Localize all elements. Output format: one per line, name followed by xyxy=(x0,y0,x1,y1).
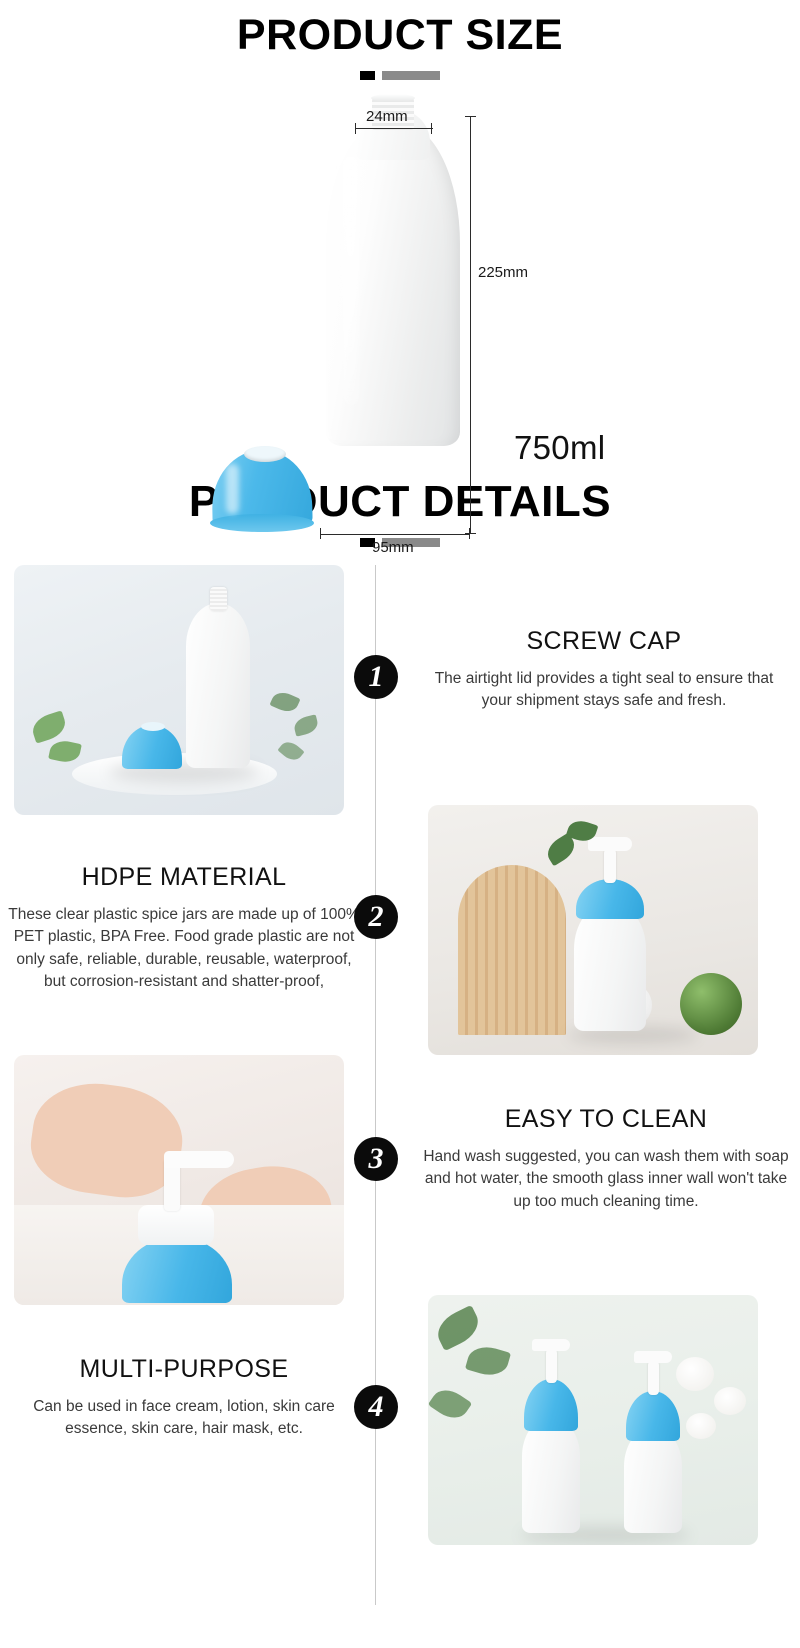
feature-title-1: SCREW CAP xyxy=(420,627,788,656)
accent-bars-top xyxy=(0,71,800,80)
bottle-highlight xyxy=(342,156,359,406)
feature-number-badge-2: 2 xyxy=(354,895,398,939)
width-dim-tick-right xyxy=(469,528,470,539)
feature-title-4: MULTI-PURPOSE xyxy=(8,1355,360,1384)
feature-block-3: EASY TO CLEAN Hand wash suggested, you c… xyxy=(420,1105,792,1213)
feature-number-badge-1: 1 xyxy=(354,655,398,699)
blue-cap-highlight xyxy=(226,464,239,514)
neck-diameter-label: 24mm xyxy=(366,108,408,125)
feature-block-2: HDPE MATERIAL These clear plastic spice … xyxy=(8,863,360,994)
feature-number-badge-4: 4 xyxy=(354,1385,398,1429)
accent-bar-square xyxy=(360,71,375,80)
feature-number-badge-3: 3 xyxy=(354,1137,398,1181)
feature-title-3: EASY TO CLEAN xyxy=(420,1105,792,1134)
bottle-neck-opening-illustration xyxy=(371,94,415,102)
volume-label: 750ml xyxy=(514,429,605,467)
feature-photo-4 xyxy=(428,1295,758,1545)
width-dimension-line xyxy=(320,534,470,535)
feature-description-1: The airtight lid provides a tight seal t… xyxy=(420,668,788,713)
feature-description-4: Can be used in face cream, lotion, skin … xyxy=(8,1396,360,1441)
neck-dimension-line xyxy=(355,128,433,129)
page-title-product-details: PRODUCT DETAILS xyxy=(0,480,800,524)
page-title-product-size: PRODUCT SIZE xyxy=(0,0,800,57)
bottle-height-label: 225mm xyxy=(478,264,528,281)
feature-block-1: SCREW CAP The airtight lid provides a ti… xyxy=(420,627,788,713)
neck-dim-tick-left xyxy=(355,123,356,134)
accent-bar-long xyxy=(382,71,440,80)
feature-block-4: MULTI-PURPOSE Can be used in face cream,… xyxy=(8,1355,360,1441)
height-dimension-line xyxy=(470,116,471,534)
blue-cap-top-opening xyxy=(244,446,286,462)
width-dim-tick-left xyxy=(320,528,321,539)
feature-description-3: Hand wash suggested, you can wash them w… xyxy=(420,1146,792,1213)
feature-photo-1 xyxy=(14,565,344,815)
base-width-label: 95mm xyxy=(372,539,414,556)
blue-cap-base xyxy=(210,514,314,532)
feature-photo-3 xyxy=(14,1055,344,1305)
feature-photo-2 xyxy=(428,805,758,1055)
product-size-diagram: 24mm 225mm 95mm 750ml xyxy=(0,86,800,476)
feature-description-2: These clear plastic spice jars are made … xyxy=(8,904,360,994)
neck-dim-tick-right xyxy=(431,123,432,134)
vertical-divider xyxy=(375,565,376,1605)
feature-title-2: HDPE MATERIAL xyxy=(8,863,360,892)
height-dim-tick-top xyxy=(465,116,476,117)
